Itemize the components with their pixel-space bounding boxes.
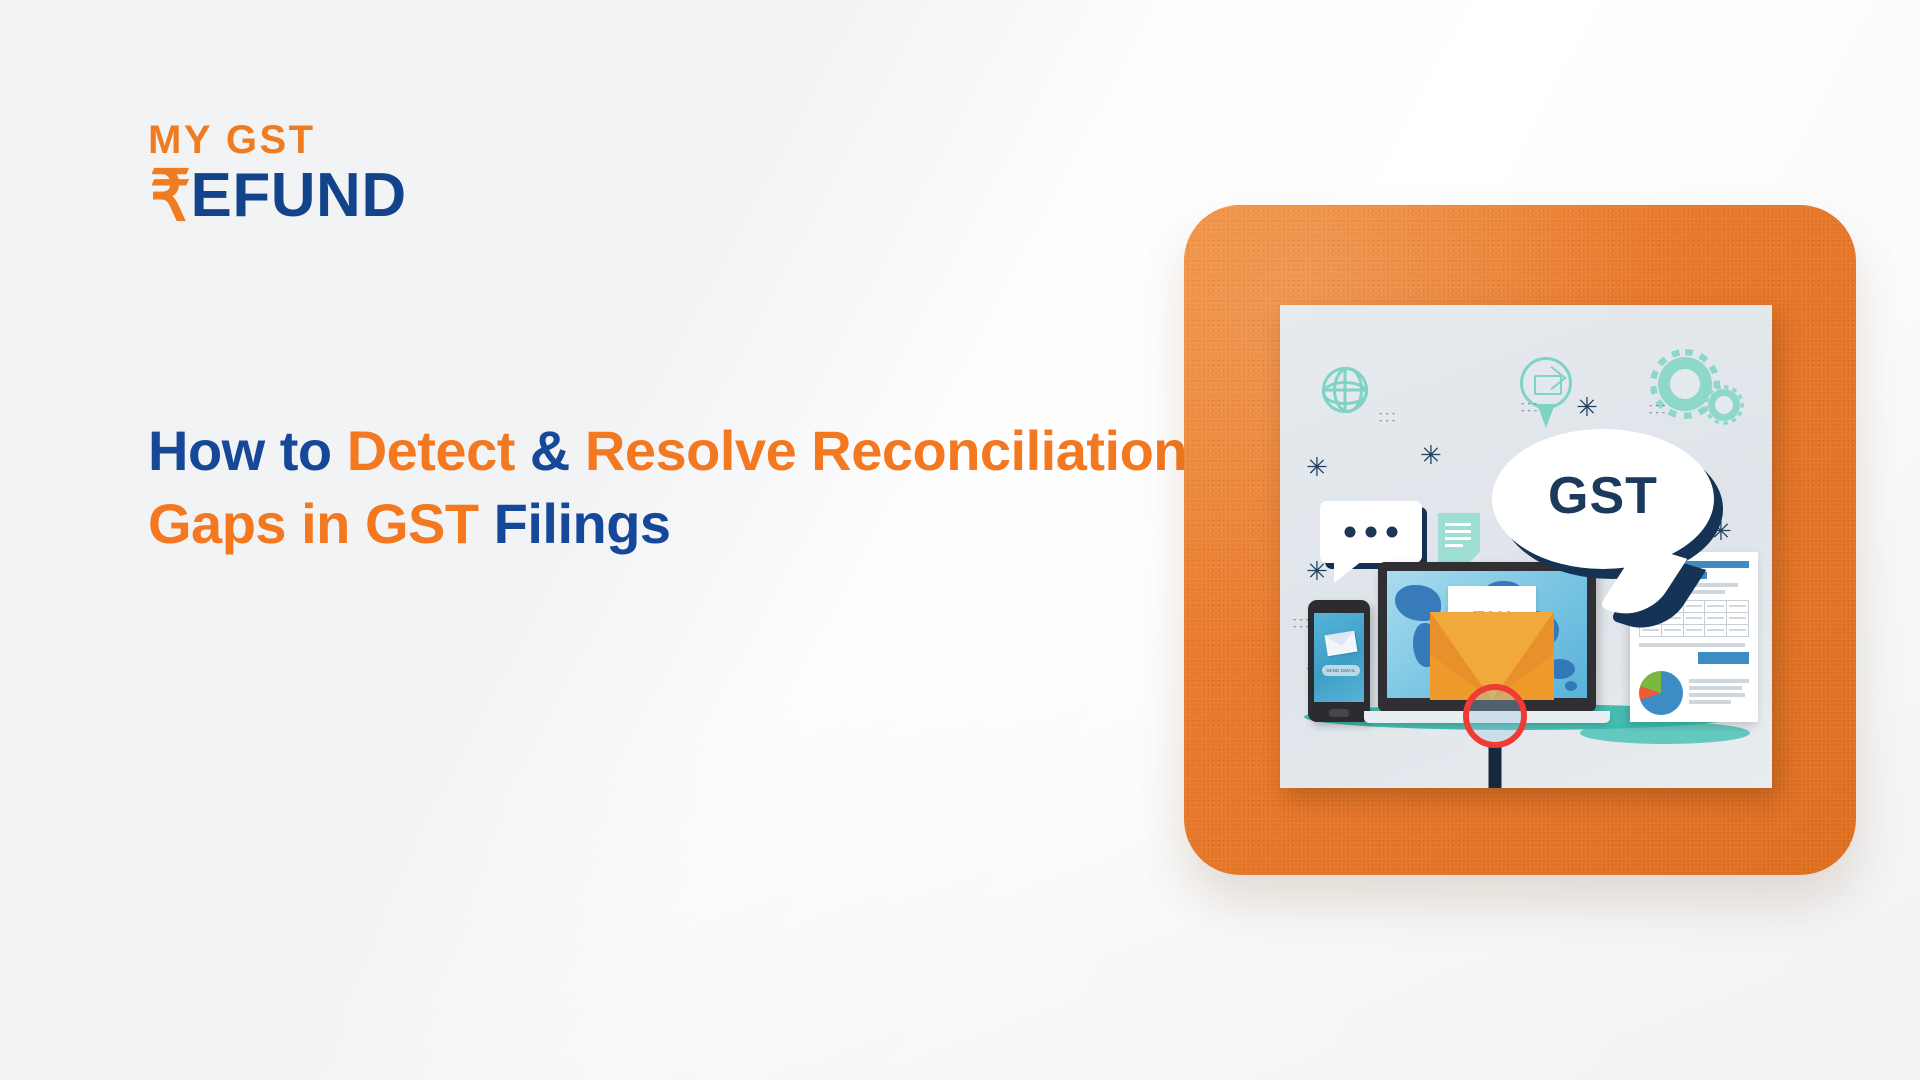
phone-screen: SEND EMAIL — [1314, 613, 1364, 702]
brand-logo[interactable]: MY GST ₹ EFUND — [148, 120, 407, 228]
brand-logo-bottom: ₹ EFUND — [148, 164, 407, 228]
rupee-icon: ₹ — [150, 164, 191, 228]
gst-speech-bubble: GST — [1492, 429, 1714, 569]
headline-segment-5: Filings — [494, 492, 671, 555]
chat-bubble-icon — [1320, 501, 1422, 563]
magnifier-handle — [1489, 742, 1502, 788]
envelope-icon — [1325, 631, 1358, 656]
document-icon — [1438, 513, 1480, 565]
page-title: How to Detect & Resolve Reconciliation G… — [148, 415, 1208, 561]
dash-marks: ------ — [1648, 403, 1667, 417]
smartphone-illustration: SEND EMAIL — [1308, 600, 1370, 722]
magnifier-icon — [1463, 684, 1527, 748]
headline-segment-3: & — [530, 419, 585, 482]
asterisk-icon: ✳ — [1420, 443, 1442, 469]
hero-illustration: ✳ ✳ ✳ ✳ ✳ ✳ ✳ ------ ------ ------ -----… — [1184, 205, 1856, 875]
phone-home-button — [1329, 709, 1349, 717]
report-pie-chart — [1639, 671, 1683, 715]
headline-segment-2: Detect — [347, 419, 530, 482]
ground-shadow-secondary — [1580, 722, 1750, 744]
report-cta-block — [1698, 652, 1749, 664]
send-email-button[interactable]: SEND EMAIL — [1322, 665, 1360, 676]
gear-small-icon — [1708, 389, 1740, 421]
asterisk-icon: ✳ — [1576, 395, 1598, 421]
brand-logo-word: EFUND — [191, 167, 407, 226]
illustration-poster: ✳ ✳ ✳ ✳ ✳ ✳ ✳ ------ ------ ------ -----… — [1280, 305, 1772, 788]
asterisk-icon: ✳ — [1306, 455, 1328, 481]
headline-segment-1: How to — [148, 419, 347, 482]
gst-bubble-label: GST — [1548, 466, 1658, 526]
globe-icon — [1322, 367, 1368, 413]
brand-logo-top-text: MY GST — [148, 120, 407, 160]
asterisk-icon: ✳ — [1306, 559, 1328, 585]
dash-marks: ------ — [1520, 401, 1539, 415]
dash-marks: ------ — [1378, 411, 1397, 425]
magnifier-ring — [1463, 684, 1527, 748]
